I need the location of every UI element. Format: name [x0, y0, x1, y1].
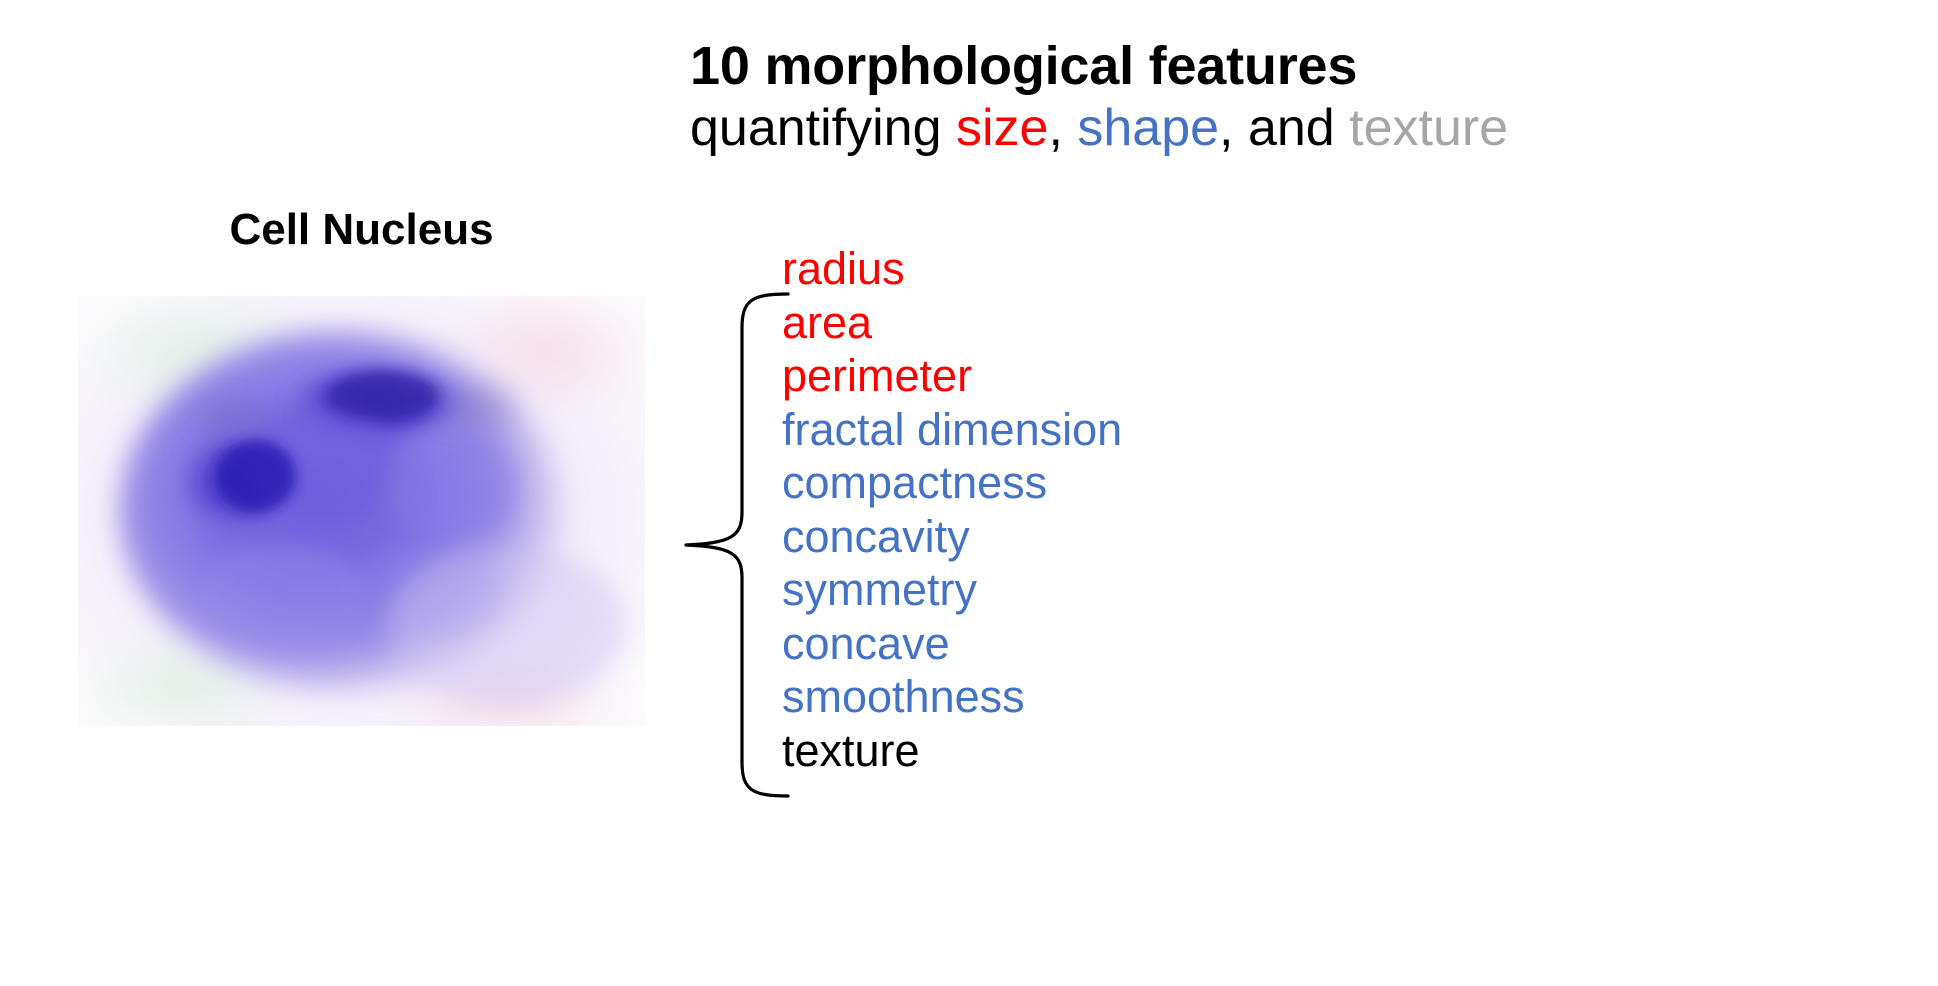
- feature-item-radius: radius: [782, 242, 1342, 296]
- curly-brace-icon: [680, 290, 790, 800]
- feature-item-smoothness: smoothness: [782, 670, 1342, 724]
- cell-nucleus-image: [78, 296, 645, 726]
- headline-block: 10 morphological features quantifying si…: [690, 38, 1930, 156]
- feature-item-texture: texture: [782, 724, 1342, 778]
- feature-item-perimeter: perimeter: [782, 349, 1342, 403]
- headline-separator-2: , and: [1219, 99, 1349, 157]
- feature-item-symmetry: symmetry: [782, 563, 1342, 617]
- keyword-shape: shape: [1077, 99, 1219, 157]
- feature-item-concavity: concavity: [782, 510, 1342, 564]
- feature-list: radius area perimeter fractal dimension …: [782, 242, 1342, 777]
- keyword-size: size: [956, 99, 1048, 157]
- keyword-texture: texture: [1349, 99, 1508, 157]
- feature-item-area: area: [782, 296, 1342, 350]
- cell-nucleus-label: Cell Nucleus: [78, 205, 645, 255]
- feature-item-fractal-dimension: fractal dimension: [782, 403, 1342, 457]
- feature-item-compactness: compactness: [782, 456, 1342, 510]
- headline-primary: 10 morphological features: [690, 38, 1930, 95]
- headline-separator-1: ,: [1048, 99, 1077, 157]
- feature-item-concave: concave: [782, 617, 1342, 671]
- slide-canvas: 10 morphological features quantifying si…: [0, 0, 1938, 986]
- headline-secondary: quantifying size, shape, and texture: [690, 101, 1930, 156]
- headline-prefix-text: quantifying: [690, 99, 956, 157]
